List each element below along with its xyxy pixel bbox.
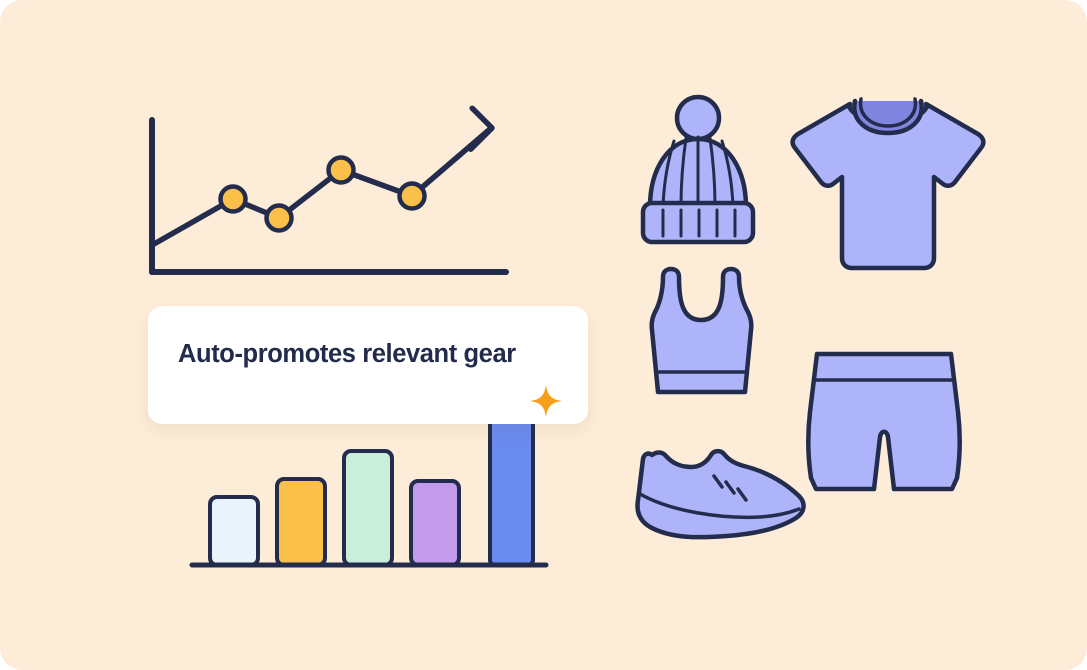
promo-headline: Auto-promotes relevant gear [178,340,516,369]
beanie-hat-icon [643,97,753,242]
promo-card[interactable]: Auto-promotes relevant gear [148,306,588,424]
shorts-icon [808,354,960,489]
sports-bra-icon [652,269,752,392]
sneaker-icon [638,451,804,537]
sparkle-icon [528,383,564,419]
illustration-canvas: Auto-promotes relevant gear [0,0,1087,670]
tshirt-icon [793,99,984,268]
